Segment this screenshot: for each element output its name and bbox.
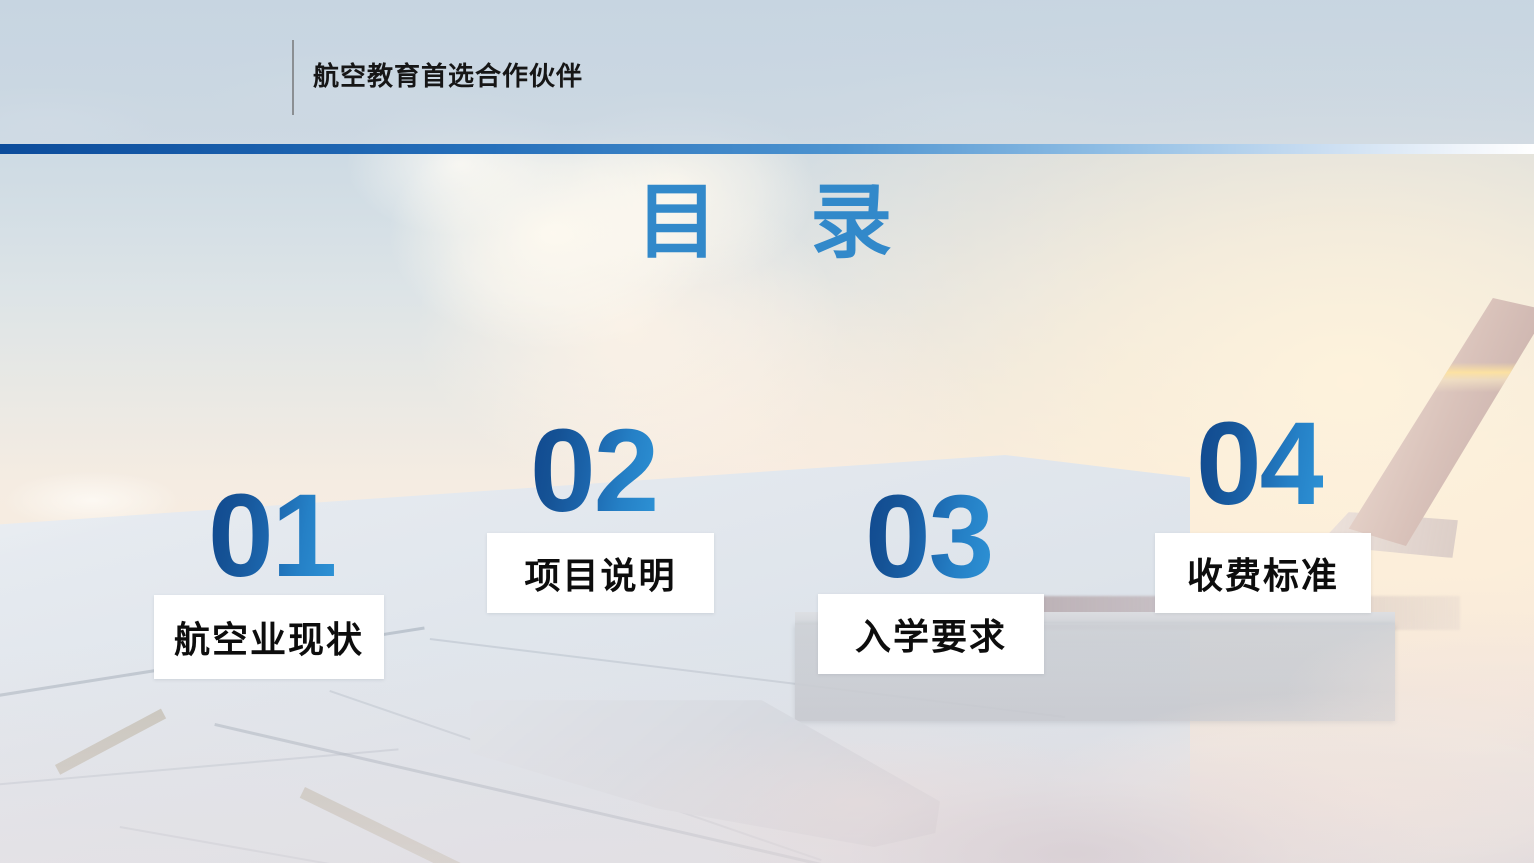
header-title: 航空教育首选合作伙伴: [313, 56, 583, 93]
slide-canvas: 航空教育首选合作伙伴 目 录 01 航空业现状 02 项目说明 03 入学要求 …: [0, 0, 1534, 863]
toc-label-03[interactable]: 入学要求: [818, 594, 1044, 674]
header-band: [0, 0, 1534, 144]
gradient-bar-icon: [0, 144, 1534, 154]
vertical-rule-icon: [292, 40, 294, 115]
winglet-sun-glint: [1336, 298, 1534, 546]
toc-label-04[interactable]: 收费标准: [1155, 533, 1371, 613]
page-title: 目 录: [0, 180, 1534, 266]
toc-number-04: 04: [1196, 405, 1323, 523]
toc-number-02: 02: [530, 412, 657, 530]
toc-label-01[interactable]: 航空业现状: [154, 595, 384, 679]
toc-label-02[interactable]: 项目说明: [487, 533, 714, 613]
toc-number-03: 03: [865, 478, 992, 596]
toc-number-01: 01: [208, 477, 335, 595]
